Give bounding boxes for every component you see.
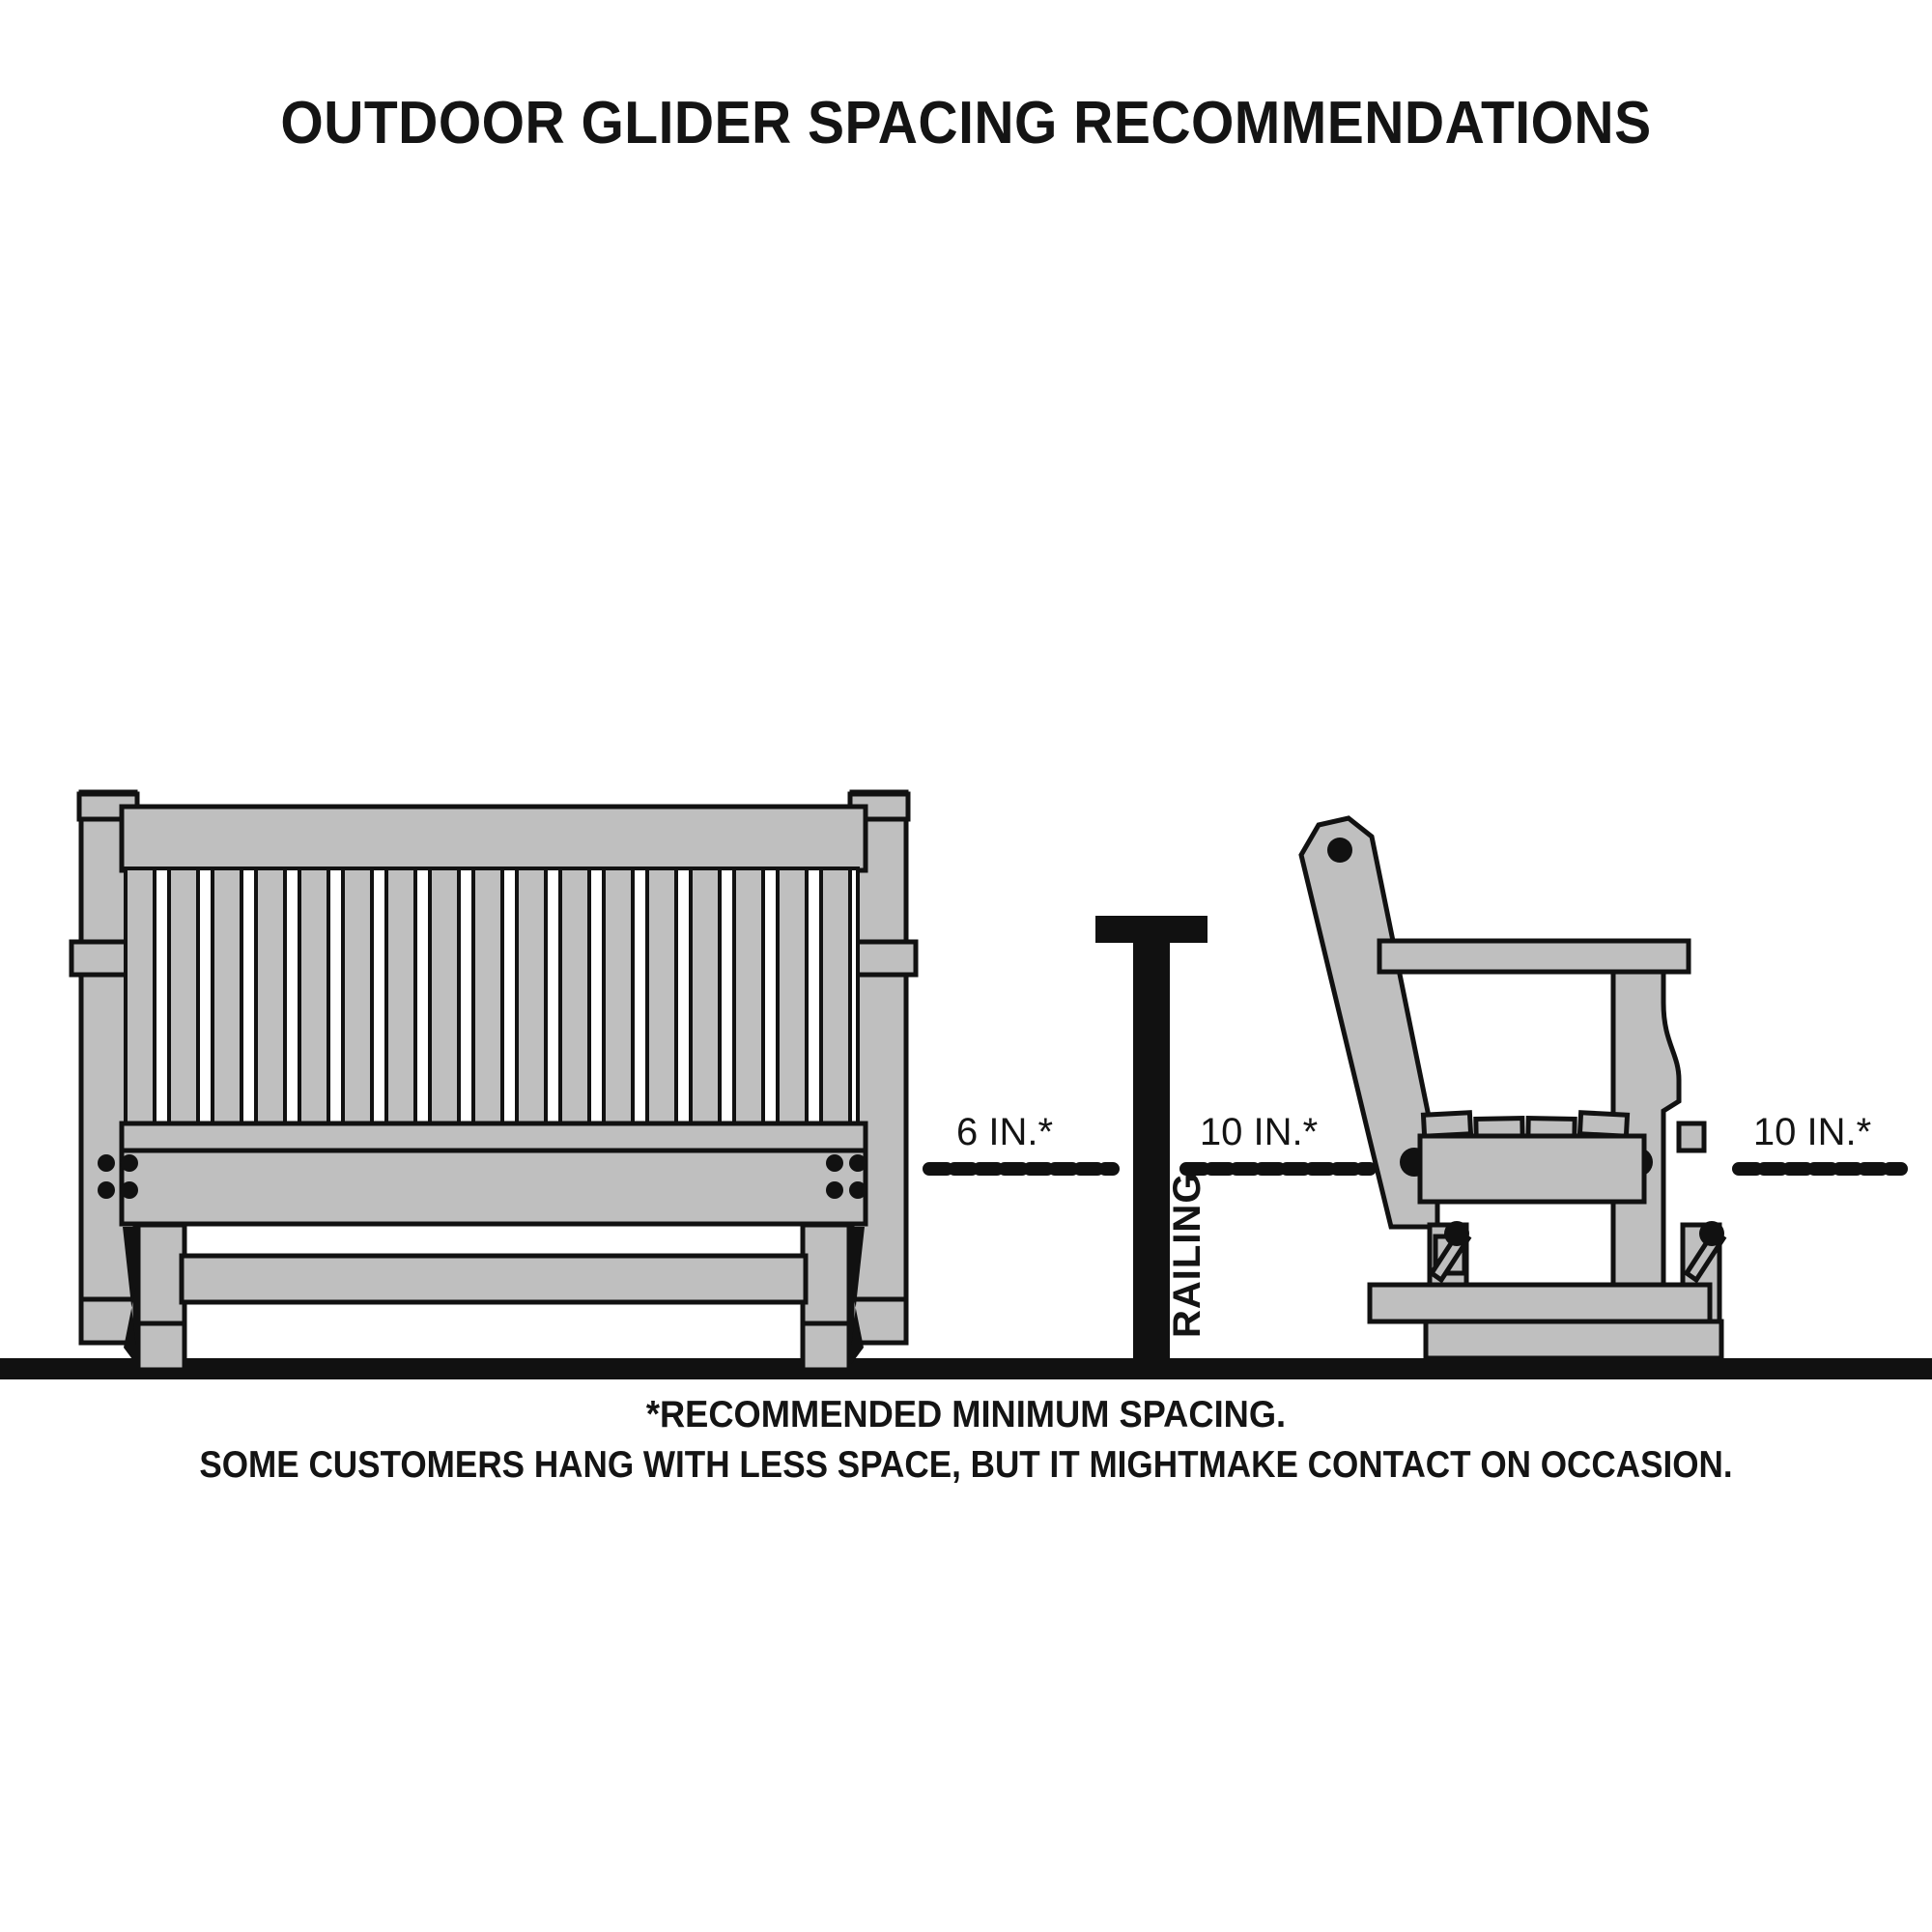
- dimension-middle-gap-label: 10 IN.*: [1200, 1111, 1318, 1153]
- caption-line-2: SOME CUSTOMERS HANG WITH LESS SPACE, BUT…: [97, 1444, 1835, 1487]
- front-top-rail: [122, 807, 866, 870]
- front-left-glider-arm: [123, 1225, 185, 1370]
- ground-line: [0, 1358, 1932, 1379]
- railing-label: RAILING: [1166, 1173, 1208, 1338]
- dimension-left-gap: 6 IN.*: [929, 1111, 1113, 1169]
- glider-side-view: [1301, 818, 1724, 1358]
- glider-front-view: [71, 792, 916, 1370]
- dimension-left-gap-label: 6 IN.*: [956, 1111, 1053, 1153]
- front-right-glider-arm: [803, 1225, 865, 1370]
- glider-spacing-illustration: .wood { fill: #BFBFBF; stroke: #111111; …: [0, 0, 1932, 1932]
- dimension-right-gap-label: 10 IN.*: [1753, 1111, 1871, 1153]
- dimension-right-gap: 10 IN.*: [1739, 1111, 1901, 1169]
- railing-post: RAILING: [1095, 916, 1208, 1368]
- diagram-page: OUTDOOR GLIDER SPACING RECOMMENDATIONS .…: [0, 0, 1932, 1932]
- dimension-middle-gap: 10 IN.*: [1186, 1111, 1370, 1169]
- front-backrest-slats: [124, 867, 860, 1125]
- caption-line-1: *RECOMMENDED MINIMUM SPACING.: [68, 1394, 1864, 1436]
- side-armrest: [1379, 941, 1689, 972]
